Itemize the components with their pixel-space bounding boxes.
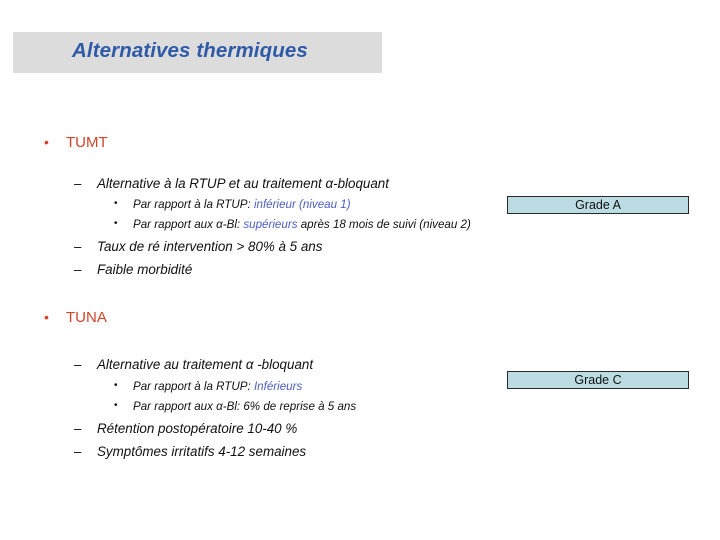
bullet-level3-tumt-alphabl: • Par rapport aux α-Bl: supérieurs après… <box>114 217 471 232</box>
bullet-level2-label: Faible morbidité <box>97 262 192 278</box>
dash-icon: – <box>74 239 97 255</box>
bullet-level2-label: Alternative au traitement α -bloquant <box>97 357 313 373</box>
bullet-level2-tuna-symptomes: – Symptômes irritatifs 4-12 semaines <box>74 444 306 460</box>
bullet-level3-lead: Par rapport à la RTUP: <box>133 380 254 393</box>
status-badge-grade-c: Grade C <box>507 371 689 389</box>
bullet-level2-label: Symptômes irritatifs 4-12 semaines <box>97 444 306 460</box>
bullet-icon: • <box>114 197 133 211</box>
bullet-level2-label: Alternative à la RTUP et au traitement α… <box>97 176 389 192</box>
grade-badge-label: Grade A <box>575 198 621 212</box>
bullet-level3-highlight: inférieur (niveau 1) <box>254 198 351 211</box>
bullet-level2-label: Taux de ré intervention > 80% à 5 ans <box>97 239 322 255</box>
slide-canvas: Alternatives thermiques • TUMT – Alterna… <box>0 0 720 540</box>
bullet-level3-label: Par rapport à la RTUP: Inférieurs <box>133 379 302 394</box>
bullet-level3-tail: après 18 mois de suivi (niveau 2) <box>298 218 471 231</box>
bullet-level3-tuna-alphabl: • Par rapport aux α-Bl: 6% de reprise à … <box>114 399 356 414</box>
slide-content: • TUMT – Alternative à la RTUP et au tra… <box>0 0 720 540</box>
bullet-level2-tuna-alternative: – Alternative au traitement α -bloquant <box>74 357 313 373</box>
bullet-level3-label: Par rapport aux α-Bl: 6% de reprise à 5 … <box>133 399 356 414</box>
bullet-icon: • <box>114 379 133 393</box>
dash-icon: – <box>74 421 97 437</box>
bullet-level3-lead: Par rapport aux α-Bl: 6% de reprise à 5 … <box>133 400 356 413</box>
dash-icon: – <box>74 444 97 460</box>
dash-icon: – <box>74 262 97 278</box>
bullet-level3-tumt-rtup: • Par rapport à la RTUP: inférieur (nive… <box>114 197 351 212</box>
bullet-level3-lead: Par rapport à la RTUP: <box>133 198 254 211</box>
section-heading-label: TUMT <box>66 134 108 151</box>
section-heading-label: TUNA <box>66 309 107 326</box>
bullet-level2-label: Rétention postopératoire 10-40 % <box>97 421 297 437</box>
bullet-level3-lead: Par rapport aux α-Bl: <box>133 218 243 231</box>
grade-badge-label: Grade C <box>574 373 621 387</box>
bullet-level2-tumt-alternative: – Alternative à la RTUP et au traitement… <box>74 176 389 192</box>
bullet-icon: • <box>114 217 133 231</box>
dash-icon: – <box>74 176 97 192</box>
bullet-level2-tuna-retention: – Rétention postopératoire 10-40 % <box>74 421 297 437</box>
bullet-level3-tuna-rtup: • Par rapport à la RTUP: Inférieurs <box>114 379 302 394</box>
status-badge-grade-a: Grade A <box>507 196 689 214</box>
bullet-level2-tumt-morbidite: – Faible morbidité <box>74 262 192 278</box>
dash-icon: – <box>74 357 97 373</box>
bullet-level3-highlight: Inférieurs <box>254 380 302 393</box>
bullet-icon: • <box>44 309 66 325</box>
bullet-level3-label: Par rapport à la RTUP: inférieur (niveau… <box>133 197 351 212</box>
bullet-level3-label: Par rapport aux α-Bl: supérieurs après 1… <box>133 217 471 232</box>
bullet-level2-tumt-taux: – Taux de ré intervention > 80% à 5 ans <box>74 239 322 255</box>
bullet-level1-tuna: • TUNA <box>44 309 107 326</box>
bullet-level3-highlight: supérieurs <box>243 218 297 231</box>
bullet-icon: • <box>114 399 133 413</box>
bullet-icon: • <box>44 134 66 150</box>
bullet-level1-tumt: • TUMT <box>44 134 108 151</box>
